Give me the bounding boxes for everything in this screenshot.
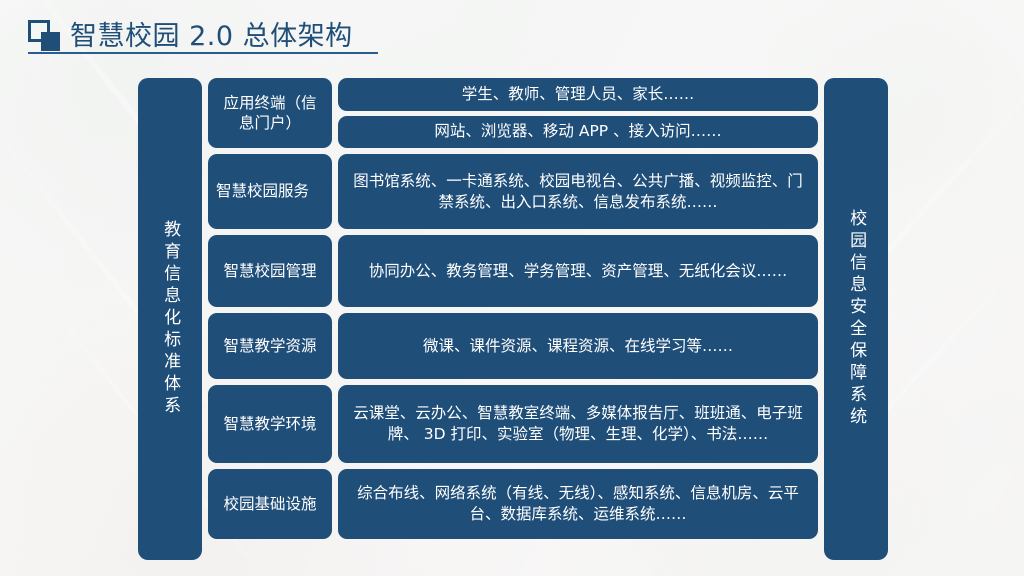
- slide-canvas: 智慧校园 2.0 总体架构 教育信息化标准体系 应用终端（信息门户） 学生、教师…: [0, 0, 1024, 576]
- layer-content: 学生、教师、管理人员、家长…… 网站、浏览器、移动 APP 、接入访问……: [338, 78, 818, 148]
- square-outline-filled-icon: [28, 20, 62, 52]
- layer-content: 图书馆系统、一卡通系统、校园电视台、公共广播、视频监控、门禁系统、出入口系统、信…: [338, 154, 818, 229]
- title-underline: [28, 52, 378, 54]
- layer-row: 校园基础设施 综合布线、网络系统（有线、无线）、感知系统、信息机房、云平台、数据…: [208, 469, 818, 539]
- content-box[interactable]: 云课堂、云办公、智慧教室终端、多媒体报告厅、班班通、电子班牌、 3D 打印、实验…: [338, 385, 818, 463]
- left-pillar-label: 教育信息化标准体系: [157, 220, 183, 418]
- content-box[interactable]: 网站、浏览器、移动 APP 、接入访问……: [338, 116, 818, 149]
- page-title-text: 智慧校园 2.0 总体架构: [70, 23, 353, 50]
- layer-content: 云课堂、云办公、智慧教室终端、多媒体报告厅、班班通、电子班牌、 3D 打印、实验…: [338, 385, 818, 463]
- content-box[interactable]: 图书馆系统、一卡通系统、校园电视台、公共广播、视频监控、门禁系统、出入口系统、信…: [338, 154, 818, 229]
- layer-row: 应用终端（信息门户） 学生、教师、管理人员、家长…… 网站、浏览器、移动 APP…: [208, 78, 818, 148]
- right-pillar-security: 校园信息安全保障系统: [824, 78, 888, 560]
- layer-label-campus-infrastructure[interactable]: 校园基础设施: [208, 469, 332, 539]
- content-box[interactable]: 综合布线、网络系统（有线、无线）、感知系统、信息机房、云平台、数据库系统、运维系…: [338, 469, 818, 539]
- content-box[interactable]: 协同办公、教务管理、学务管理、资产管理、无纸化会议……: [338, 235, 818, 307]
- left-pillar-standards: 教育信息化标准体系: [138, 78, 202, 560]
- right-pillar-label: 校园信息安全保障系统: [843, 209, 869, 429]
- architecture-diagram: 教育信息化标准体系 应用终端（信息门户） 学生、教师、管理人员、家长…… 网站、…: [138, 78, 888, 560]
- layer-row: 智慧教学环境 云课堂、云办公、智慧教室终端、多媒体报告厅、班班通、电子班牌、 3…: [208, 385, 818, 463]
- layer-content: 综合布线、网络系统（有线、无线）、感知系统、信息机房、云平台、数据库系统、运维系…: [338, 469, 818, 539]
- layer-row: 智慧校园管理 协同办公、教务管理、学务管理、资产管理、无纸化会议……: [208, 235, 818, 307]
- content-box[interactable]: 微课、课件资源、课程资源、在线学习等……: [338, 313, 818, 379]
- layer-label-teaching-resources[interactable]: 智慧教学资源: [208, 313, 332, 379]
- layer-content: 协同办公、教务管理、学务管理、资产管理、无纸化会议……: [338, 235, 818, 307]
- layer-label-campus-services[interactable]: 智慧校园服务: [208, 154, 332, 229]
- layer-label-campus-management[interactable]: 智慧校园管理: [208, 235, 332, 307]
- layer-label-teaching-environment[interactable]: 智慧教学环境: [208, 385, 332, 463]
- layer-row: 智慧校园服务 图书馆系统、一卡通系统、校园电视台、公共广播、视频监控、门禁系统、…: [208, 154, 818, 229]
- layer-row: 智慧教学资源 微课、课件资源、课程资源、在线学习等……: [208, 313, 818, 379]
- content-box[interactable]: 学生、教师、管理人员、家长……: [338, 78, 818, 111]
- layer-content: 微课、课件资源、课程资源、在线学习等……: [338, 313, 818, 379]
- layer-stack: 应用终端（信息门户） 学生、教师、管理人员、家长…… 网站、浏览器、移动 APP…: [208, 78, 818, 560]
- layer-label-application-terminal[interactable]: 应用终端（信息门户）: [208, 78, 332, 148]
